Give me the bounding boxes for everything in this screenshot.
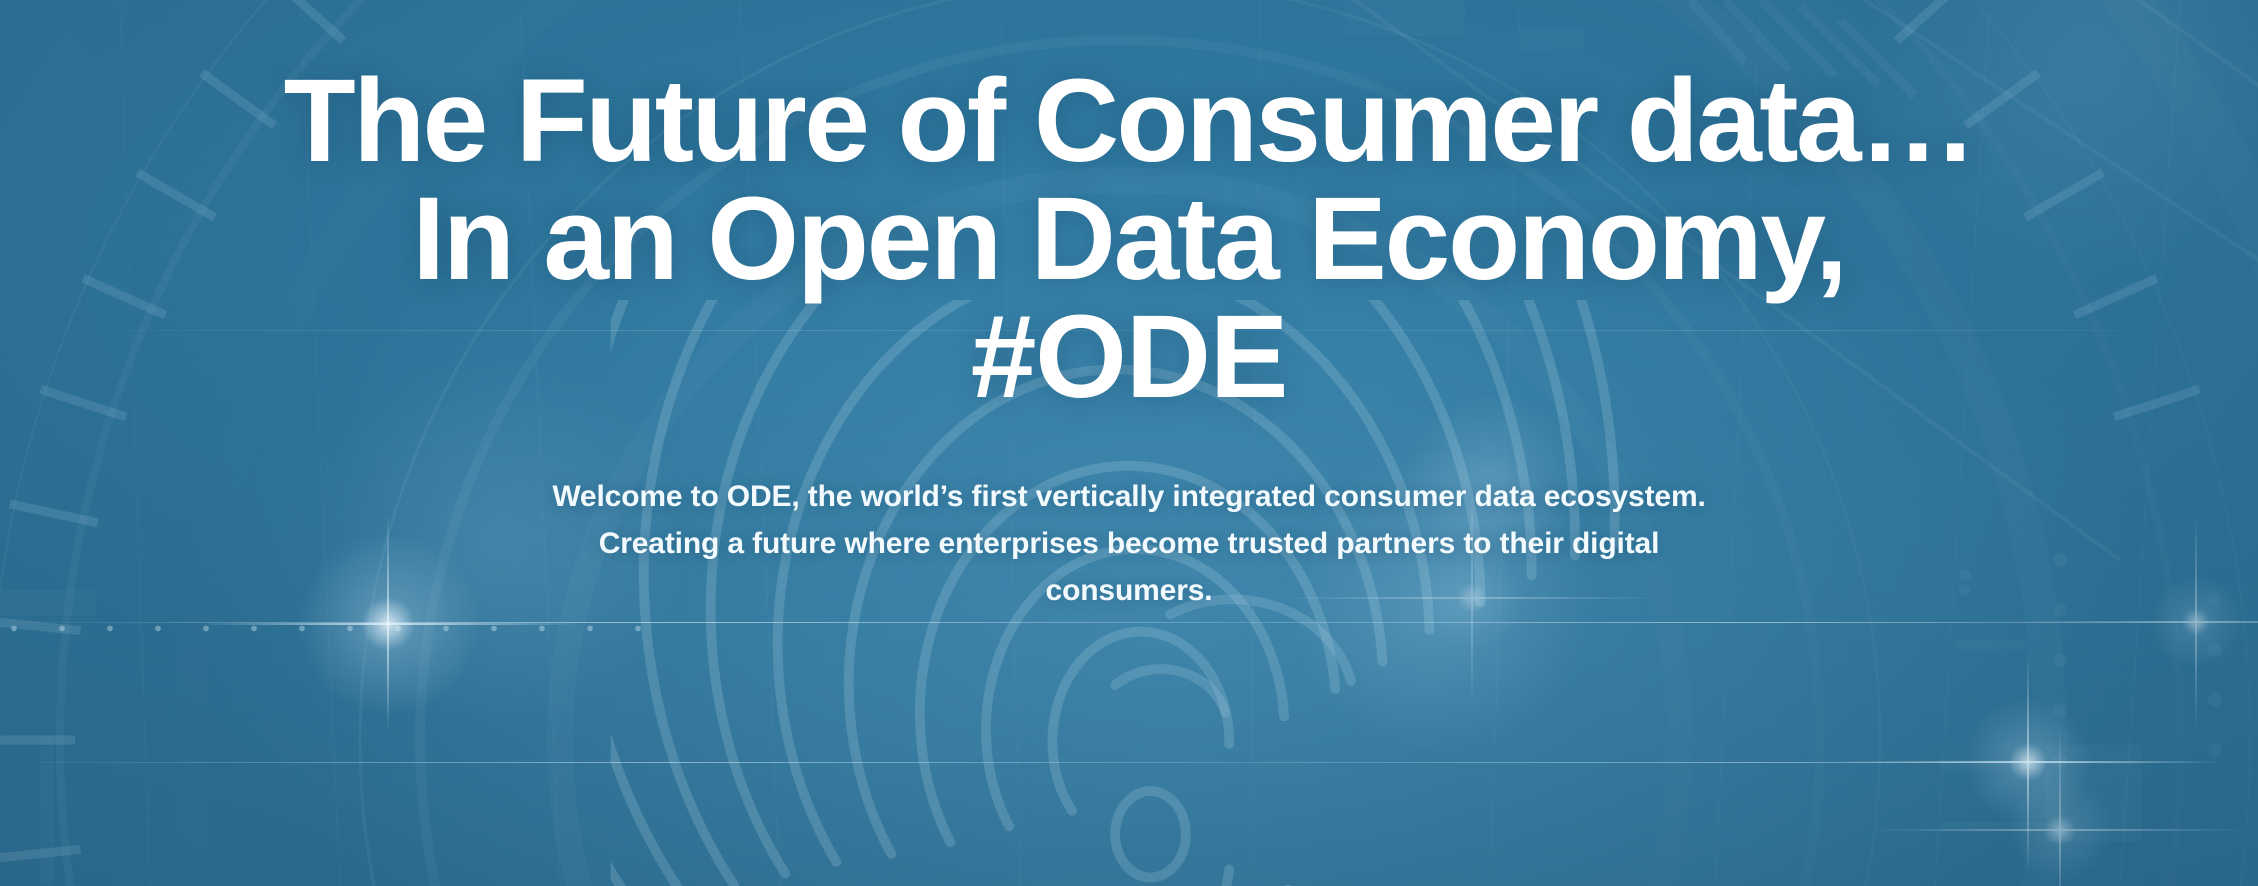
hero-subheadline: Welcome to ODE, the world’s first vertic… xyxy=(514,474,1744,614)
subheadline-line-1: Welcome to ODE, the world’s first vertic… xyxy=(552,480,1705,513)
headline-line-3-hashtag: #ODE xyxy=(24,298,2234,416)
hero-banner: The Future of Consumer data… In an Open … xyxy=(0,0,2258,886)
hero-content: The Future of Consumer data… In an Open … xyxy=(0,0,2258,886)
page-title: The Future of Consumer data… In an Open … xyxy=(24,62,2234,416)
subheadline-line-2: Creating a future where enterprises beco… xyxy=(599,527,1660,560)
headline-line-2: In an Open Data Economy, xyxy=(24,180,2234,298)
subheadline-line-3: consumers. xyxy=(1046,574,1213,607)
headline-line-1: The Future of Consumer data… xyxy=(24,62,2234,180)
